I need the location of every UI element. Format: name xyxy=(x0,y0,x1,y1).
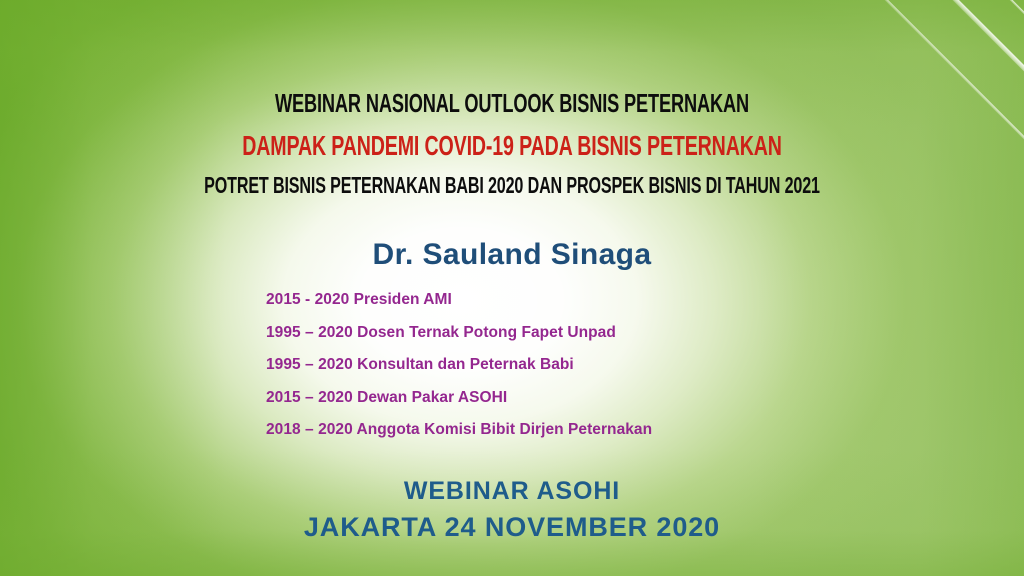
credentials-list: 2015 - 2020 Presiden AMI 1995 – 2020 Dos… xyxy=(266,284,652,447)
title-line-2-highlight: DAMPAK PANDEMI COVID-19 PADA BISNIS PETE… xyxy=(154,129,871,163)
list-item: 1995 – 2020 Konsultan dan Peternak Babi xyxy=(266,349,652,382)
footer-block: WEBINAR ASOHI JAKARTA 24 NOVEMBER 2020 xyxy=(0,475,1024,545)
list-item: 1995 – 2020 Dosen Ternak Potong Fapet Un… xyxy=(266,317,652,350)
list-item: 2015 – 2020 Dewan Pakar ASOHI xyxy=(266,382,652,415)
list-item: 2018 – 2020 Anggota Komisi Bibit Dirjen … xyxy=(266,414,652,447)
title-block: WEBINAR NASIONAL OUTLOOK BISNIS PETERNAK… xyxy=(0,88,1024,199)
list-item: 2015 - 2020 Presiden AMI xyxy=(266,284,652,317)
footer-date-location: JAKARTA 24 NOVEMBER 2020 xyxy=(0,510,1024,545)
title-line-1: WEBINAR NASIONAL OUTLOOK BISNIS PETERNAK… xyxy=(154,88,871,118)
presenter-name: Dr. Sauland Sinaga xyxy=(0,238,1024,272)
footer-event-name: WEBINAR ASOHI xyxy=(0,475,1024,508)
slide-content: WEBINAR NASIONAL OUTLOOK BISNIS PETERNAK… xyxy=(0,0,1024,576)
presentation-slide: WEBINAR NASIONAL OUTLOOK BISNIS PETERNAK… xyxy=(0,0,1024,576)
title-line-3-subtitle: POTRET BISNIS PETERNAKAN BABI 2020 DAN P… xyxy=(154,172,871,199)
